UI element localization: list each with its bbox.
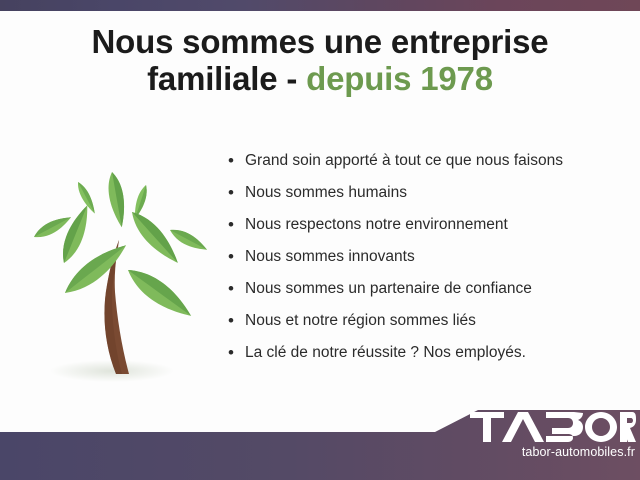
list-item: • Nous sommes innovants (228, 246, 638, 278)
list-item: • Nous sommes un partenaire de confiance (228, 278, 638, 310)
list-item-label: Nous sommes innovants (245, 246, 415, 268)
leaf-right-mid (126, 206, 184, 268)
list-item: • La clé de notre réussite ? Nos employé… (228, 342, 638, 374)
title-line-2-plain: familiale - (147, 60, 306, 97)
list-item-label: La clé de notre réussite ? Nos employés. (245, 342, 526, 364)
bullet-marker-icon: • (228, 310, 245, 332)
top-accent-bar (0, 0, 640, 11)
list-item: • Nous respectons notre environnement (228, 214, 638, 246)
page-title: Nous sommes une entreprise familiale - d… (0, 24, 640, 98)
leaf-right-lower (122, 262, 197, 324)
list-item: • Grand soin apporté à tout ce que nous … (228, 150, 638, 182)
tree-shadow (50, 360, 174, 382)
bullet-marker-icon: • (228, 182, 245, 204)
leaf-right-small (167, 225, 209, 255)
bullet-marker-icon: • (228, 342, 245, 364)
leaf-left-mid (57, 202, 95, 265)
bullet-marker-icon: • (228, 246, 245, 268)
list-item-label: Grand soin apporté à tout ce que nous fa… (245, 150, 563, 172)
footer-shape (0, 410, 640, 480)
list-item: • Nous et notre région sommes liés (228, 310, 638, 342)
footer-bar (0, 398, 640, 480)
bullet-marker-icon: • (228, 214, 245, 236)
leaf-top-center (105, 171, 128, 229)
bullet-marker-icon: • (228, 278, 245, 300)
list-item-label: Nous respectons notre environnement (245, 214, 508, 236)
list-item-label: Nous sommes un partenaire de confiance (245, 278, 532, 300)
benefits-list: • Grand soin apporté à tout ce que nous … (228, 150, 638, 374)
title-line-1: Nous sommes une entreprise (0, 24, 640, 61)
slide-root: Nous sommes une entreprise familiale - d… (0, 0, 640, 480)
tree-illustration (12, 152, 218, 388)
title-line-2: familiale - depuis 1978 (0, 61, 640, 98)
title-accent-year: depuis 1978 (306, 60, 493, 97)
list-item-label: Nous et notre région sommes liés (245, 310, 476, 332)
list-item-label: Nous sommes humains (245, 182, 407, 204)
list-item: • Nous sommes humains (228, 182, 638, 214)
bullet-marker-icon: • (228, 150, 245, 172)
